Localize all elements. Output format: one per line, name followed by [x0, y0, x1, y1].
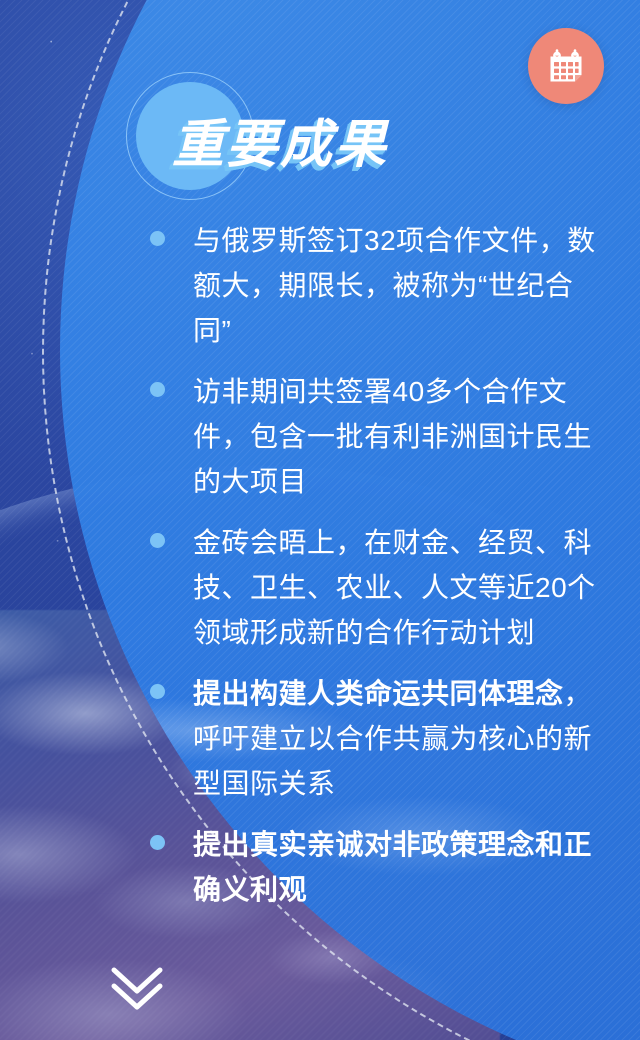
bullet-dot-icon — [150, 533, 165, 548]
list-item: 提出真实亲诚对非政策理念和正确义利观 — [150, 822, 600, 912]
list-item-text-emphasis: 提出真实亲诚对非政策理念和正确义利观 — [193, 829, 592, 905]
bullet-dot-icon — [150, 684, 165, 699]
list-item: 与俄罗斯签订32项合作文件，数额大，期限长，被称为“世纪合同” — [150, 218, 600, 353]
list-item: 访非期间共签署40多个合作文件，包含一批有利非洲国计民生的大项目 — [150, 369, 600, 504]
title-block: 重要成果 — [136, 82, 536, 202]
double-chevron-down-icon — [102, 1001, 172, 1018]
list-item-text-emphasis: 提出构建人类命运共同体理念 — [193, 678, 564, 709]
calendar-icon — [545, 45, 587, 87]
list-item-text-segment: 与俄罗斯签订32项合作文件，数额大，期限长，被称为“世纪合同” — [193, 225, 596, 346]
poster-canvas: 重要成果 与俄罗斯签订32项合作文件，数额大，期限长，被称为“世纪合同”访非期间… — [0, 0, 640, 1040]
list-item-text-segment: 金砖会晤上，在财金、经贸、科技、卫生、农业、人文等近20个领域形成新的合作行动计… — [193, 527, 596, 648]
list-item: 提出构建人类命运共同体理念，呼吁建立以合作共赢为核心的新型国际关系 — [150, 671, 600, 806]
bullet-dot-icon — [150, 835, 165, 850]
achievements-list: 与俄罗斯签订32项合作文件，数额大，期限长，被称为“世纪合同”访非期间共签署40… — [150, 218, 600, 928]
page-title: 重要成果 — [172, 102, 388, 177]
list-item-text: 访非期间共签署40多个合作文件，包含一批有利非洲国计民生的大项目 — [193, 369, 600, 504]
bullet-dot-icon — [150, 231, 165, 246]
list-item-text: 金砖会晤上，在财金、经贸、科技、卫生、农业、人文等近20个领域形成新的合作行动计… — [193, 520, 600, 655]
bullet-dot-icon — [150, 382, 165, 397]
scroll-down-hint[interactable] — [102, 958, 172, 1014]
list-item-text: 提出真实亲诚对非政策理念和正确义利观 — [193, 822, 600, 912]
list-item-text: 与俄罗斯签订32项合作文件，数额大，期限长，被称为“世纪合同” — [193, 218, 600, 353]
calendar-badge[interactable] — [528, 28, 604, 104]
list-item-text: 提出构建人类命运共同体理念，呼吁建立以合作共赢为核心的新型国际关系 — [193, 671, 600, 806]
list-item-text-segment: 访非期间共签署40多个合作文件，包含一批有利非洲国计民生的大项目 — [193, 376, 592, 497]
list-item: 金砖会晤上，在财金、经贸、科技、卫生、农业、人文等近20个领域形成新的合作行动计… — [150, 520, 600, 655]
